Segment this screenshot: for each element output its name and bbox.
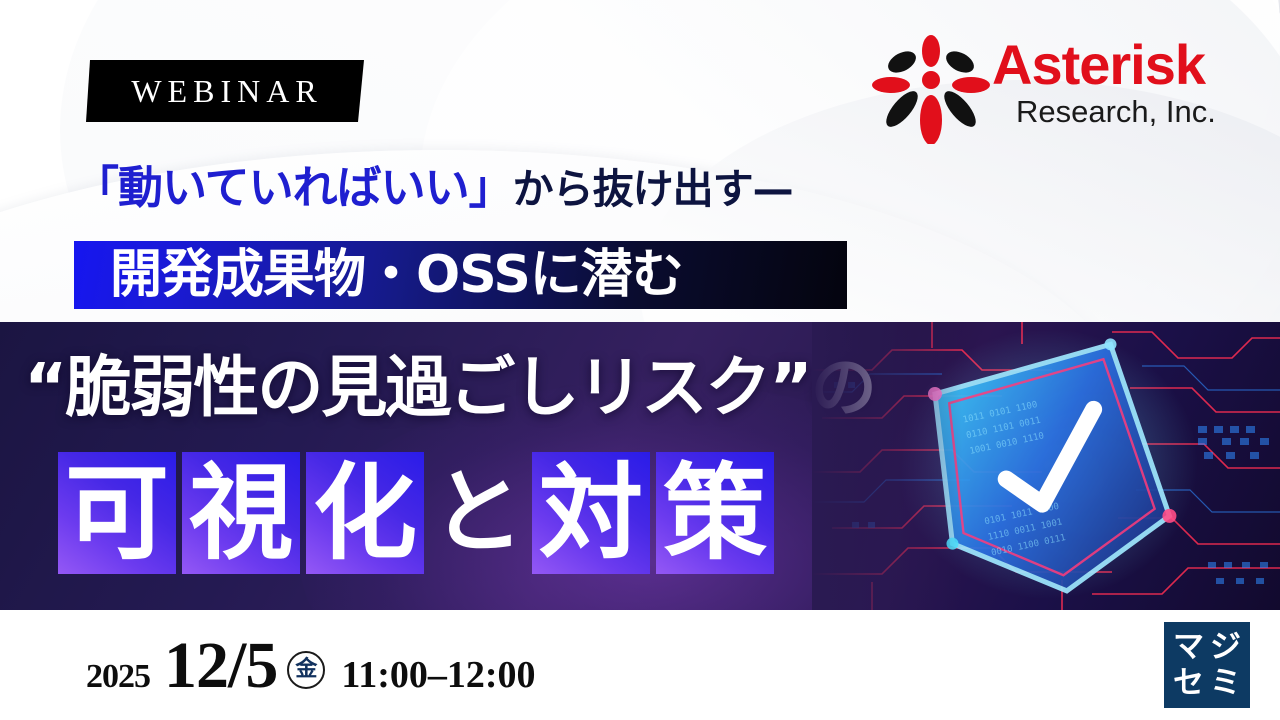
artwork-left-fade <box>812 322 962 610</box>
footer: 2025 12/5 金 11:00–12:00 <box>0 610 1280 720</box>
headline-line-2-band: 開発成果物・OSSに潜む <box>74 241 847 309</box>
event-day-badge: 金 <box>287 651 325 689</box>
event-datetime: 2025 12/5 金 11:00–12:00 <box>86 628 536 702</box>
majisemi-char-2: ジ <box>1207 629 1244 665</box>
asterisk-research-logo: Asterisk Research, Inc. <box>872 30 1254 146</box>
event-time: 11:00–12:00 <box>341 653 535 697</box>
kanji-box-saku-label: 策 <box>663 461 767 565</box>
asterisk-flower-icon <box>872 32 990 144</box>
kanji-box-ka-label: 可 <box>65 461 169 565</box>
headline-line-3: “脆弱性の見過ごしリスク”の <box>24 345 875 431</box>
webinar-badge: WEBINAR <box>86 60 364 122</box>
kanji-box-ka: 可 <box>58 452 176 574</box>
logo-wordmark: Asterisk Research, Inc. <box>992 38 1254 129</box>
kanji-box-saku: 策 <box>656 452 774 574</box>
headline-line-1: 「動いていればいい」から抜け出す— <box>74 160 894 216</box>
kanji-box-tai: 対 <box>532 452 650 574</box>
cyber-shield-artwork: 1011 0101 1100 0110 1101 0011 1001 0010 … <box>812 322 1280 610</box>
event-year: 2025 <box>86 658 150 696</box>
headline-line-1-rest: から抜け出す— <box>513 165 793 213</box>
majisemi-char-1: マ <box>1170 629 1207 665</box>
logo-brand-subtitle: Research, Inc. <box>992 95 1254 129</box>
majisemi-char-4: ミ <box>1207 665 1244 701</box>
majisemi-logo: マ ジ セ ミ <box>1164 622 1250 708</box>
event-date: 12/5 <box>164 628 277 704</box>
kanji-box-tai-label: 対 <box>539 461 643 565</box>
majisemi-char-3: セ <box>1170 665 1207 701</box>
headline-line-4: 可 視 化 と 対 策 <box>58 452 774 574</box>
headline-line-1-quoted: 「動いていればいい」 <box>74 161 513 214</box>
kanji-box-shi-label: 視 <box>189 461 293 565</box>
webinar-banner: WEBINAR Asterisk Research, Inc. 「動いていればい… <box>0 0 1280 720</box>
webinar-badge-label: WEBINAR <box>127 73 322 110</box>
kanji-connector-to: と <box>430 452 526 574</box>
kanji-box-shi: 視 <box>182 452 300 574</box>
logo-brand-name: Asterisk <box>992 38 1254 93</box>
kanji-box-ka2-label: 化 <box>313 461 417 565</box>
event-day-label: 金 <box>295 659 317 681</box>
kanji-box-ka2: 化 <box>306 452 424 574</box>
headline-line-2: 開発成果物・OSSに潜む <box>110 241 683 309</box>
